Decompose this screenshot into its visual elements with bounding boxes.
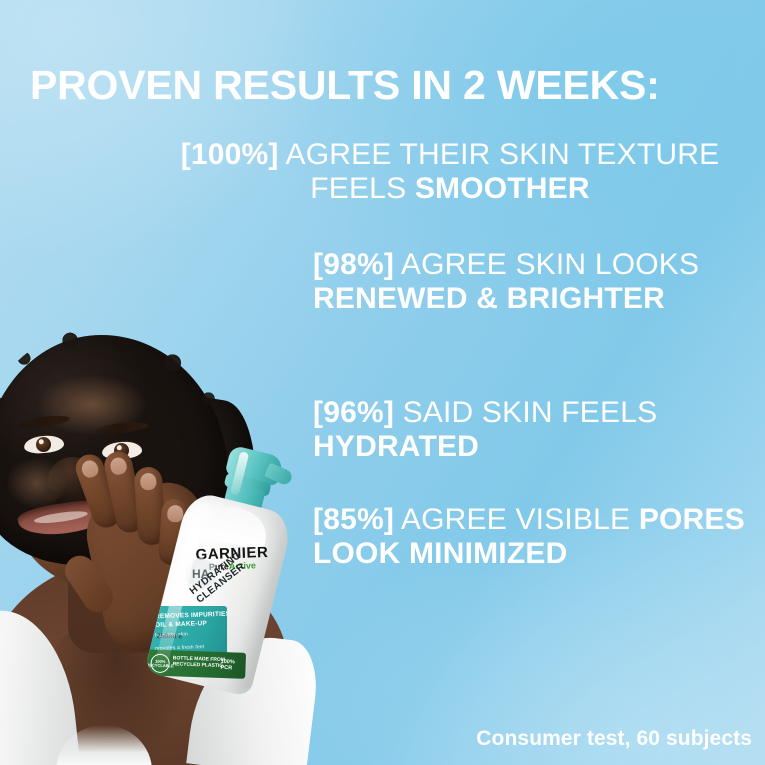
claim-item: [96%] SAID SKIN FEELS HYDRATED xyxy=(313,396,753,463)
fingernail xyxy=(140,473,157,491)
recycled-plastic-band: 100% RECYCLABLE BOTTLE MADE FROM RECYCLE… xyxy=(144,649,246,679)
band-text: BOTTLE MADE FROM RECYCLED PLASTIC xyxy=(173,655,226,669)
band-text-line-2: RECYCLED PLASTIC xyxy=(173,661,225,669)
iris-left xyxy=(35,436,51,452)
panel-line-1: REMOVES IMPURITIES xyxy=(155,611,227,621)
claim-text: AGREE VISIBLE xyxy=(394,503,639,536)
cheek-highlight xyxy=(6,457,68,509)
recycle-badge-icon: 100% RECYCLABLE xyxy=(150,653,170,673)
fingernail xyxy=(80,458,101,479)
claim-text: AGREE THEIR SKIN TEXTURE FEELS xyxy=(279,138,720,205)
claim-item: [85%] AGREE VISIBLE PORES LOOK MINIMIZED xyxy=(313,503,753,570)
claim-emphasis: HYDRATED xyxy=(313,430,479,463)
claim-emphasis: RENEWED & BRIGHTER xyxy=(313,282,665,315)
claim-percent: [100%] xyxy=(181,138,279,171)
page-title: PROVEN RESULTS IN 2 WEEKS: xyxy=(30,65,660,106)
pcr-percent-label: 100% PCR xyxy=(220,658,240,671)
claim-emphasis: PORES LOOK MINIMIZED xyxy=(313,503,745,570)
claim-text: SAID SKIN FEELS xyxy=(394,396,657,429)
footnote: Consumer test, 60 subjects xyxy=(476,727,752,751)
claim-item: [98%] AGREE SKIN LOOKS RENEWED & BRIGHTE… xyxy=(313,248,743,315)
claim-text: AGREE SKIN LOOKS xyxy=(394,248,699,281)
ad-creative: GARNIER PureActive HA HYDRATING CLEANSER… xyxy=(0,0,765,765)
bottle-volume: 250ml e xyxy=(156,633,182,640)
recycle-badge-label: 100% RECYCLABLE xyxy=(146,659,174,668)
panel-line-2: OIL & MAKE-UP xyxy=(155,620,207,629)
fingernail xyxy=(109,456,128,476)
claim-item: [100%] AGREE THEIR SKIN TEXTURE FEELS SM… xyxy=(170,138,730,205)
pcr-percent-badge: 100% PCR xyxy=(220,656,241,674)
claim-emphasis: SMOOTHER xyxy=(415,172,590,205)
